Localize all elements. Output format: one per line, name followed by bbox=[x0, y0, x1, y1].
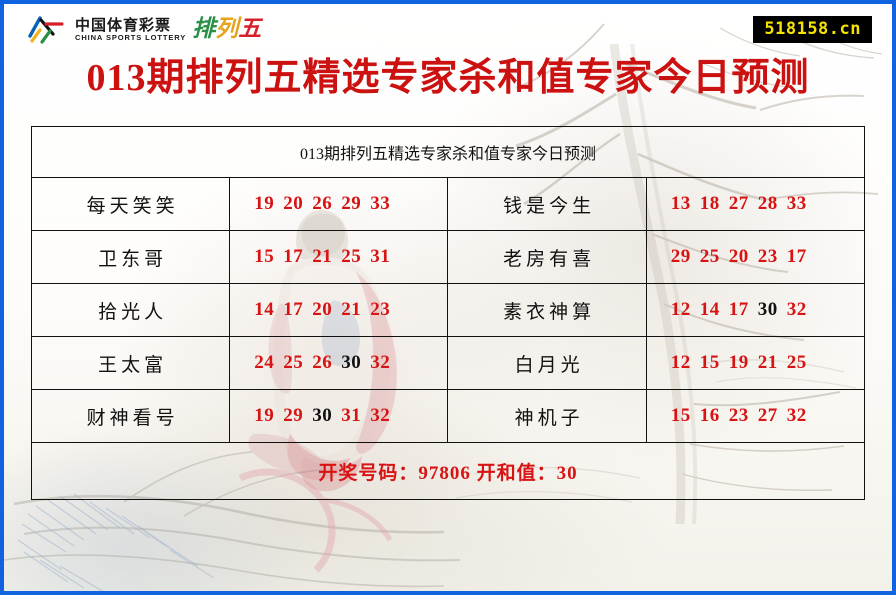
page-frame: 中国体育彩票 CHINA SPORTS LOTTERY 排列五 518158.c… bbox=[0, 0, 896, 595]
expert-name: 财神看号 bbox=[32, 390, 230, 443]
lottery-number: 17 bbox=[787, 246, 807, 267]
lottery-number: 17 bbox=[729, 299, 749, 320]
lottery-number: 31 bbox=[370, 246, 390, 267]
lottery-number: 32 bbox=[370, 405, 390, 426]
lottery-number: 12 bbox=[671, 299, 691, 320]
lottery-number: 32 bbox=[370, 352, 390, 373]
prediction-table: 013期排列五精选专家杀和值专家今日预测 每天笑笑 1920262933 钱是今… bbox=[31, 126, 865, 500]
lottery-number: 18 bbox=[700, 193, 720, 214]
table-row: 财神看号 1929303132 神机子 1516232732 bbox=[32, 390, 865, 443]
table-caption-row: 013期排列五精选专家杀和值专家今日预测 bbox=[32, 127, 865, 178]
lottery-number: 32 bbox=[787, 299, 807, 320]
game-name-char-2: 列 bbox=[215, 16, 238, 42]
header: 中国体育彩票 CHINA SPORTS LOTTERY 排列五 518158.c… bbox=[4, 4, 892, 52]
expert-name: 白月光 bbox=[448, 337, 646, 390]
lottery-number: 19 bbox=[254, 405, 274, 426]
expert-name: 王太富 bbox=[32, 337, 230, 390]
lottery-number: 23 bbox=[758, 246, 778, 267]
expert-numbers: 1517212531 bbox=[230, 231, 448, 284]
lottery-number: 15 bbox=[254, 246, 274, 267]
lottery-number: 26 bbox=[312, 352, 332, 373]
lottery-number: 19 bbox=[729, 352, 749, 373]
expert-numbers: 1929303132 bbox=[230, 390, 448, 443]
lottery-number: 20 bbox=[283, 193, 303, 214]
game-name-char-1: 排 bbox=[192, 16, 215, 42]
expert-name: 老房有喜 bbox=[448, 231, 646, 284]
prediction-table-body: 013期排列五精选专家杀和值专家今日预测 每天笑笑 1920262933 钱是今… bbox=[32, 127, 865, 500]
china-sports-lottery-logo-icon bbox=[28, 14, 68, 44]
lottery-number: 30 bbox=[758, 299, 778, 320]
lottery-number: 24 bbox=[254, 352, 274, 373]
expert-numbers: 2425263032 bbox=[230, 337, 448, 390]
expert-name: 钱是今生 bbox=[448, 178, 646, 231]
expert-numbers: 1318272833 bbox=[646, 178, 864, 231]
draw-result-summary: 开奖号码：97806 开和值：30 bbox=[32, 443, 865, 500]
lottery-number: 25 bbox=[700, 246, 720, 267]
game-name: 排列五 bbox=[192, 14, 261, 44]
lottery-number: 15 bbox=[671, 405, 691, 426]
table-row: 每天笑笑 1920262933 钱是今生 1318272833 bbox=[32, 178, 865, 231]
lottery-number: 15 bbox=[700, 352, 720, 373]
lottery-number: 30 bbox=[312, 405, 332, 426]
lottery-number: 21 bbox=[312, 246, 332, 267]
game-name-char-3: 五 bbox=[238, 16, 261, 42]
expert-numbers: 1920262933 bbox=[230, 178, 448, 231]
lottery-number: 26 bbox=[312, 193, 332, 214]
lottery-number: 29 bbox=[671, 246, 691, 267]
expert-numbers: 1214173032 bbox=[646, 284, 864, 337]
lottery-number: 14 bbox=[254, 299, 274, 320]
expert-name: 每天笑笑 bbox=[32, 178, 230, 231]
lottery-number: 29 bbox=[341, 193, 361, 214]
lottery-number: 14 bbox=[700, 299, 720, 320]
table-row: 卫东哥 1517212531 老房有喜 2925202317 bbox=[32, 231, 865, 284]
lottery-number: 33 bbox=[370, 193, 390, 214]
lottery-number: 17 bbox=[283, 246, 303, 267]
lottery-number: 28 bbox=[758, 193, 778, 214]
prediction-table-wrap: 013期排列五精选专家杀和值专家今日预测 每天笑笑 1920262933 钱是今… bbox=[31, 126, 865, 500]
expert-numbers: 1516232732 bbox=[646, 390, 864, 443]
expert-name: 卫东哥 bbox=[32, 231, 230, 284]
lottery-number: 33 bbox=[787, 193, 807, 214]
lottery-number: 25 bbox=[341, 246, 361, 267]
site-watermark: 518158.cn bbox=[753, 16, 872, 43]
lottery-number: 32 bbox=[787, 405, 807, 426]
lottery-number: 17 bbox=[283, 299, 303, 320]
brand-text: 中国体育彩票 CHINA SPORTS LOTTERY bbox=[75, 14, 186, 44]
lottery-number: 16 bbox=[700, 405, 720, 426]
expert-name: 拾光人 bbox=[32, 284, 230, 337]
lottery-number: 20 bbox=[729, 246, 749, 267]
lottery-number: 27 bbox=[758, 405, 778, 426]
lottery-number: 13 bbox=[671, 193, 691, 214]
lottery-number: 23 bbox=[729, 405, 749, 426]
lottery-number: 23 bbox=[370, 299, 390, 320]
lottery-number: 27 bbox=[729, 193, 749, 214]
expert-numbers: 1215192125 bbox=[646, 337, 864, 390]
lottery-number: 12 bbox=[671, 352, 691, 373]
table-row: 拾光人 1417202123 素衣神算 1214173032 bbox=[32, 284, 865, 337]
table-caption: 013期排列五精选专家杀和值专家今日预测 bbox=[32, 127, 865, 178]
lottery-number: 29 bbox=[283, 405, 303, 426]
expert-numbers: 2925202317 bbox=[646, 231, 864, 284]
brand-cn-name: 中国体育彩票 bbox=[75, 17, 186, 33]
lottery-number: 25 bbox=[283, 352, 303, 373]
page-title: 013期排列五精选专家杀和值专家今日预测 bbox=[4, 56, 892, 100]
lottery-number: 21 bbox=[341, 299, 361, 320]
brand-en-name: CHINA SPORTS LOTTERY bbox=[75, 33, 186, 42]
expert-name: 神机子 bbox=[448, 390, 646, 443]
expert-numbers: 1417202123 bbox=[230, 284, 448, 337]
expert-name: 素衣神算 bbox=[448, 284, 646, 337]
brand-logo: 中国体育彩票 CHINA SPORTS LOTTERY 排列五 bbox=[28, 13, 261, 45]
lottery-number: 31 bbox=[341, 405, 361, 426]
table-footer-row: 开奖号码：97806 开和值：30 bbox=[32, 443, 865, 500]
table-row: 王太富 2425263032 白月光 1215192125 bbox=[32, 337, 865, 390]
lottery-number: 20 bbox=[312, 299, 332, 320]
lottery-number: 21 bbox=[758, 352, 778, 373]
lottery-number: 30 bbox=[341, 352, 361, 373]
lottery-number: 19 bbox=[254, 193, 274, 214]
lottery-number: 25 bbox=[787, 352, 807, 373]
